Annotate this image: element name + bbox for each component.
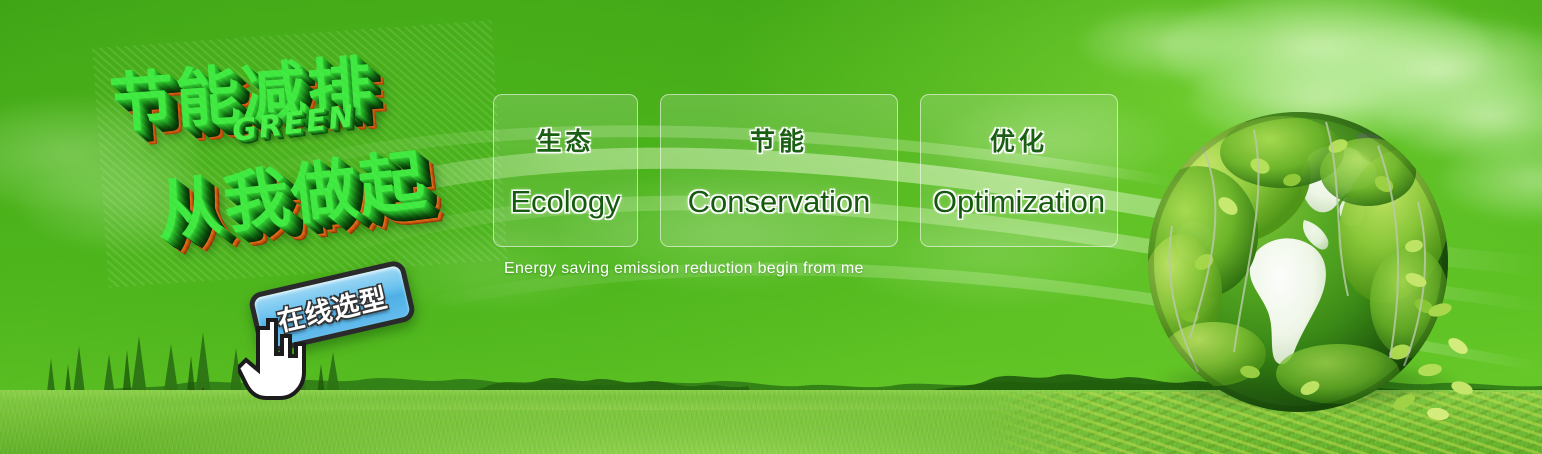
cloud-shape <box>1300 18 1542 123</box>
feature-card-cn-label: 节能 <box>750 122 808 158</box>
feature-card-cn-label: 生态 <box>536 122 594 158</box>
headline-3d-text: 节能减排 GREEN 从我做起 <box>92 20 508 287</box>
eco-banner: 节能减排 GREEN 从我做起 在线选型 生态 Ecology 节能 Conse… <box>0 0 1542 454</box>
feature-card-ecology[interactable]: 生态 Ecology <box>493 94 638 247</box>
headline-line-bottom: 从我做起 <box>150 127 432 255</box>
feature-cards: 生态 Ecology 节能 Conservation 优化 Optimizati… <box>493 94 1118 247</box>
falling-leaves <box>1298 262 1488 432</box>
feature-card-conservation[interactable]: 节能 Conservation <box>660 94 898 247</box>
pointing-hand-cursor-icon <box>238 316 312 402</box>
feature-card-en-label: Conservation <box>688 184 871 220</box>
cloud-shape <box>1080 8 1260 78</box>
banner-tagline: Energy saving emission reduction begin f… <box>504 260 864 278</box>
feature-card-en-label: Optimization <box>933 184 1105 220</box>
feature-card-en-label: Ecology <box>510 184 620 220</box>
cloud-shape <box>1160 0 1490 110</box>
feature-card-cn-label: 优化 <box>990 122 1048 158</box>
earth-globe <box>1148 112 1458 422</box>
feature-card-optimization[interactable]: 优化 Optimization <box>920 94 1118 247</box>
